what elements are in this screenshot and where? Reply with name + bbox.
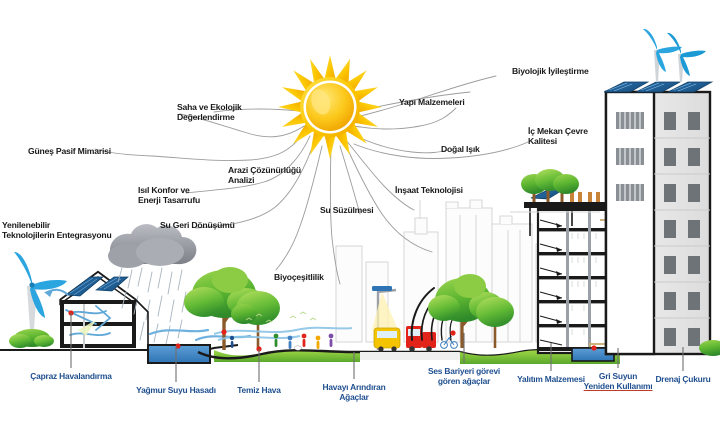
label-temiz-hava: Temiz Hava bbox=[219, 385, 299, 395]
label-gri-suyun-yeniden-line1: Gri Suyun bbox=[599, 371, 637, 381]
solar-panel-icon bbox=[66, 277, 128, 296]
red-marker-dot-icon bbox=[591, 345, 596, 350]
multistory-building-section bbox=[510, 169, 618, 353]
red-marker-dot-icon bbox=[221, 329, 226, 334]
tree-icon bbox=[184, 267, 265, 350]
red-marker-dot-icon bbox=[657, 344, 662, 349]
label-arazi-cozunurlugu: Arazi Çözünürlüğü Analizi bbox=[228, 165, 338, 185]
skyline-icon bbox=[336, 200, 570, 342]
label-yagmur-suyu-hasadi: Yağmur Suyu Hasadı bbox=[121, 385, 231, 395]
label-su-suzulmesi: Su Süzülmesi bbox=[320, 205, 410, 215]
label-isil-konfor: Isıl Konfor ve Enerji Tasarrufu bbox=[138, 185, 248, 205]
bus-icon bbox=[374, 328, 400, 352]
wind-turbine-icon bbox=[643, 29, 706, 82]
label-capraz-havalandirma: Çapraz Havalandırma bbox=[11, 371, 131, 381]
tree-icon bbox=[231, 291, 280, 348]
people-icon bbox=[230, 334, 334, 351]
label-yenilenebilir: Yenilenebilir Teknolojilerin Entegrasyon… bbox=[2, 220, 132, 240]
sound-wave-icon bbox=[412, 288, 458, 340]
apartment-tower bbox=[604, 29, 712, 354]
shrub-icon bbox=[9, 329, 54, 348]
greywater-tank-icon bbox=[572, 348, 614, 361]
red-marker-dot-icon bbox=[450, 330, 455, 335]
tree-icon bbox=[521, 169, 579, 202]
street-light-icon bbox=[372, 286, 398, 350]
label-su-geri-donusumu: Su Geri Dönüşümü bbox=[160, 220, 270, 230]
shrub-icon bbox=[699, 340, 720, 356]
tree-icon bbox=[476, 297, 514, 348]
cross-ventilation-house-section bbox=[44, 272, 136, 348]
label-insaat-teknolojisi: İnşaat Teknolojisi bbox=[395, 185, 505, 195]
drainage-pit-icon bbox=[620, 333, 720, 355]
truck-icon bbox=[406, 326, 436, 352]
red-marker-dot-icon bbox=[68, 310, 73, 315]
label-biyocesitlilik: Biyoçeşitlilik bbox=[274, 272, 354, 282]
red-marker-dot-icon bbox=[175, 343, 180, 348]
wind-turbine-icon bbox=[14, 252, 67, 345]
label-biyolojik-iyilestirme: Biyolojik İyileştirme bbox=[512, 66, 637, 76]
label-drenaj-cukuru: Drenaj Çukuru bbox=[638, 374, 720, 384]
label-ic-mekan-cevre: İç Mekan Çevre Kalitesi bbox=[528, 126, 638, 146]
red-marker-dot-icon bbox=[256, 346, 261, 351]
label-dogal-isik: Doğal Işık bbox=[441, 144, 521, 154]
label-saha-ve-ekolojik: Saha ve Ekolojik Değerlendirme bbox=[177, 102, 287, 122]
infographic-canvas: Güneş Pasif MimarisiYenilenebilir Teknol… bbox=[0, 0, 720, 427]
label-gunes-pasif-mimarisi: Güneş Pasif Mimarisi bbox=[28, 146, 148, 156]
label-yapi-malzemeleri: Yapı Malzemeleri bbox=[399, 97, 509, 107]
solar-panel-icon bbox=[604, 82, 712, 92]
label-havayi-arindiran-agaclar: Havayı Arındıran Ağaçlar bbox=[304, 382, 404, 402]
solar-panel-icon bbox=[531, 188, 566, 199]
rain-icon bbox=[118, 268, 186, 344]
tree-icon bbox=[428, 274, 503, 348]
cyclist-icon bbox=[441, 336, 458, 348]
water-cistern-icon bbox=[148, 345, 210, 363]
